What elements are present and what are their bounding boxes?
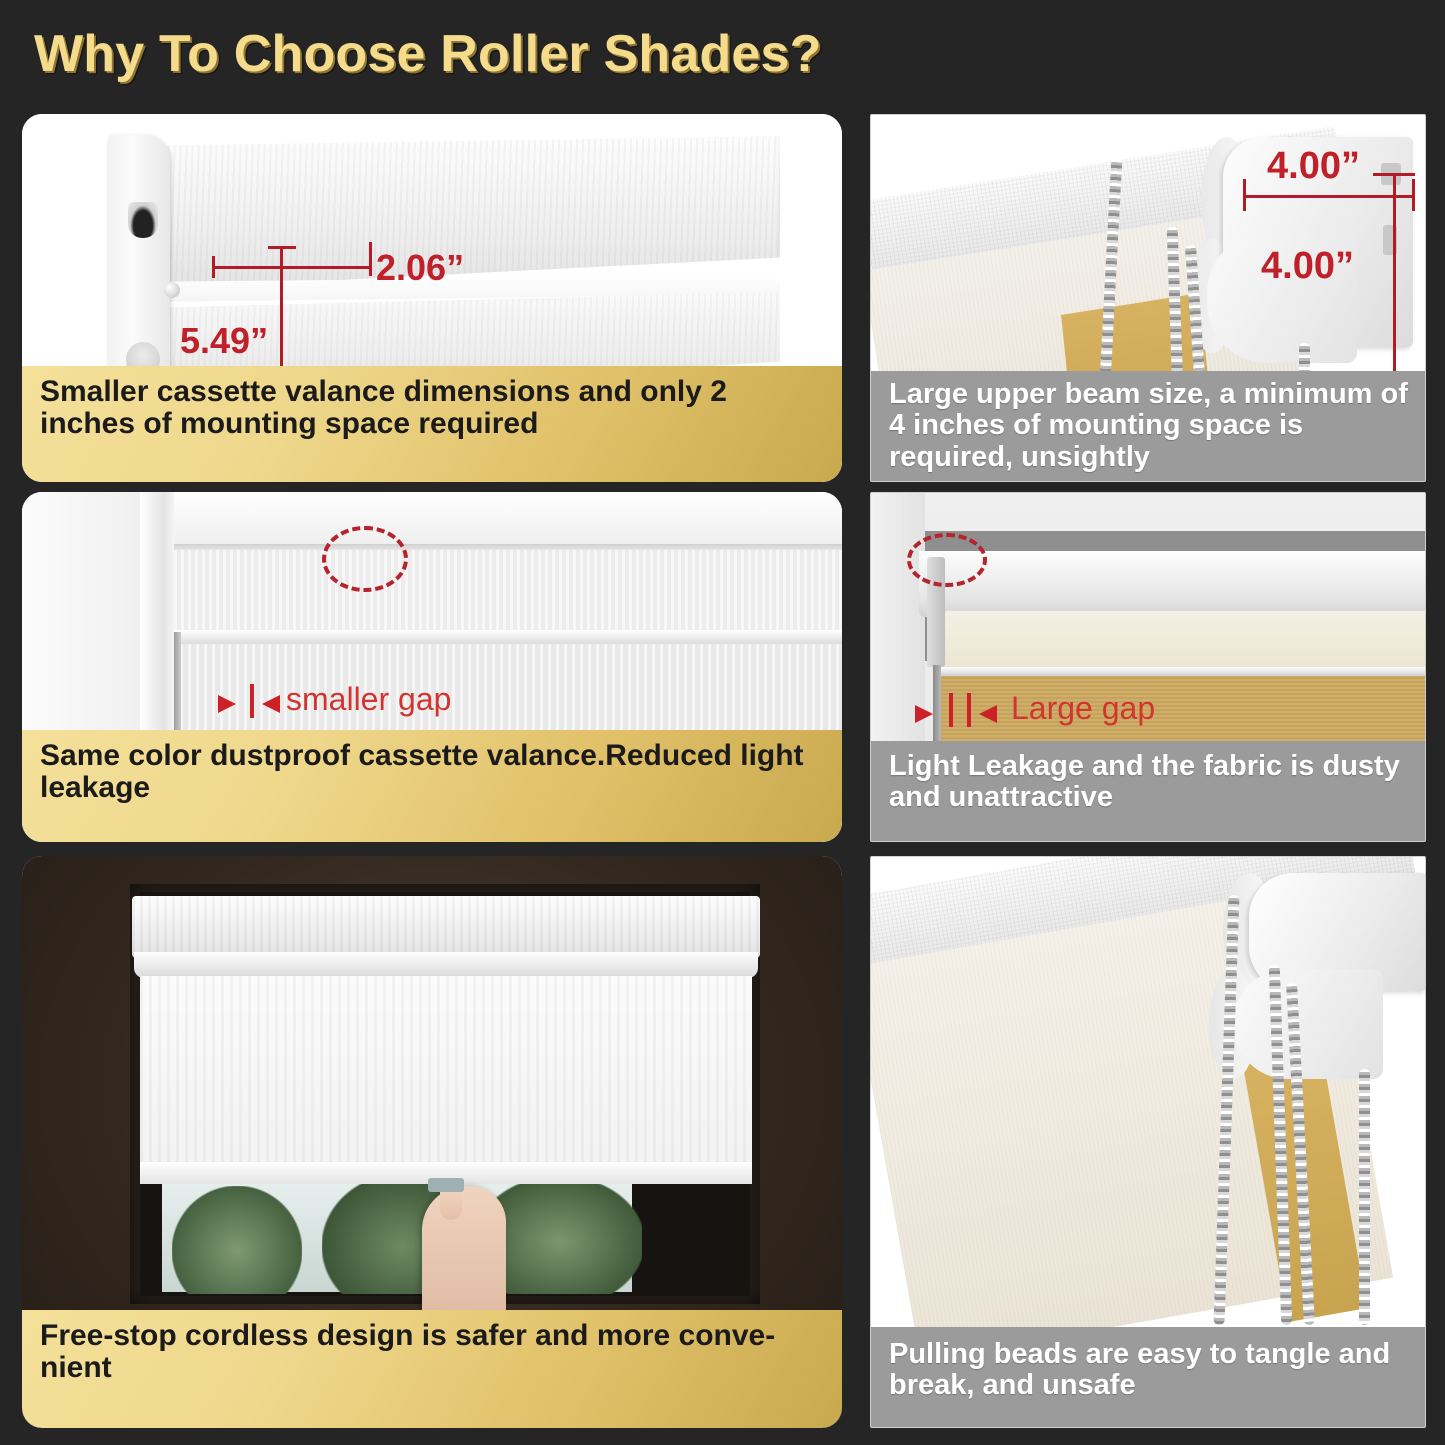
- width-dim-tick-left: [212, 256, 215, 278]
- smaller-gap-label: smaller gap: [286, 681, 451, 718]
- page-title: Why To Choose Roller Shades?: [34, 24, 822, 84]
- bracket-screw-icon: [164, 282, 180, 298]
- panel-large-upper-beam: 4.00” 4.00” Large upper beam size, a min…: [870, 114, 1426, 482]
- pull-tab: [428, 1178, 464, 1192]
- infographic-page: Why To Choose Roller Shades? 2.06” 5.49”…: [0, 0, 1445, 1445]
- height-dimension-label: 5.49”: [180, 320, 268, 362]
- cassette-valance: [132, 896, 760, 958]
- cassette-valance-face: [174, 550, 842, 632]
- width-dimension-line: [212, 266, 372, 269]
- panel-caption-dustproof-cassette-valance: Same color dustproof cassette valance.Re…: [22, 730, 842, 842]
- valance-bottom-lip: [174, 630, 842, 644]
- bracket-slot-icon: [128, 202, 158, 238]
- panel-caption-cassette-valance-dimensions: Smaller cassette valance dimensions and …: [22, 366, 842, 482]
- panel-caption-large-upper-beam: Large upper beam size, a minimum of 4 in…: [871, 371, 1425, 481]
- fabric-bottom-lip: [933, 667, 1426, 676]
- panel-caption-light-leakage-dusty-fabric: Light Leakage and the fabric is dusty an…: [871, 741, 1425, 841]
- panel-dustproof-cassette-valance: smaller gap Same color dustproof cassett…: [22, 492, 842, 842]
- highlight-ellipse-icon: [322, 526, 408, 592]
- gap-arrow-right-icon: [262, 695, 280, 713]
- tree-foliage-3: [492, 1178, 642, 1294]
- shade-fabric: [140, 976, 752, 1176]
- panel-caption-pulling-beads-unsafe: Pulling beads are easy to tangle and bre…: [871, 1327, 1425, 1427]
- beam-height-dimension-line: [1393, 173, 1396, 385]
- gap-marker-outer: [949, 693, 953, 727]
- highlight-ellipse-icon: [907, 533, 987, 587]
- valance-bottom-lip: [134, 952, 758, 978]
- gap-arrow-right-icon: [979, 705, 997, 723]
- tree-foliage-1: [172, 1186, 302, 1294]
- roller-tube: [919, 551, 1426, 617]
- cream-fabric-band: [933, 611, 1426, 671]
- beam-width-dimension-line: [1243, 195, 1415, 198]
- gap-arrow-left-icon: [218, 695, 236, 713]
- large-gap-label: Large gap: [1011, 690, 1155, 727]
- beam-height-tick-top: [1373, 173, 1415, 176]
- bead-chain-4: [1359, 1069, 1370, 1325]
- gap-marker: [250, 684, 254, 718]
- panel-pulling-beads-unsafe: Pulling beads are easy to tangle and bre…: [870, 856, 1426, 1428]
- panel-caption-free-stop-cordless-design: Free-stop cordless design is safer and m…: [22, 1310, 842, 1428]
- gap-arrow-left-icon: [915, 705, 933, 723]
- panel-light-leakage-dusty-fabric: Large gap Light Leakage and the fabric i…: [870, 492, 1426, 842]
- width-dim-tick-right: [369, 242, 372, 276]
- beam-width-tick-left: [1243, 179, 1246, 211]
- height-dim-tick-top: [268, 246, 296, 249]
- beam-bracket-lower: [1233, 969, 1383, 1079]
- beam-width-tick-right: [1412, 179, 1415, 211]
- panel-free-stop-cordless-design: Free-stop cordless design is safer and m…: [22, 856, 842, 1428]
- gap-marker-inner: [967, 693, 971, 727]
- width-dimension-label: 2.06”: [376, 247, 464, 289]
- beam-height-label: 4.00”: [1261, 245, 1354, 288]
- panel-cassette-valance-dimensions: 2.06” 5.49” Smaller cassette valance dim…: [22, 114, 842, 482]
- window-head-trim: [162, 492, 842, 548]
- beam-width-label: 4.00”: [1267, 145, 1360, 188]
